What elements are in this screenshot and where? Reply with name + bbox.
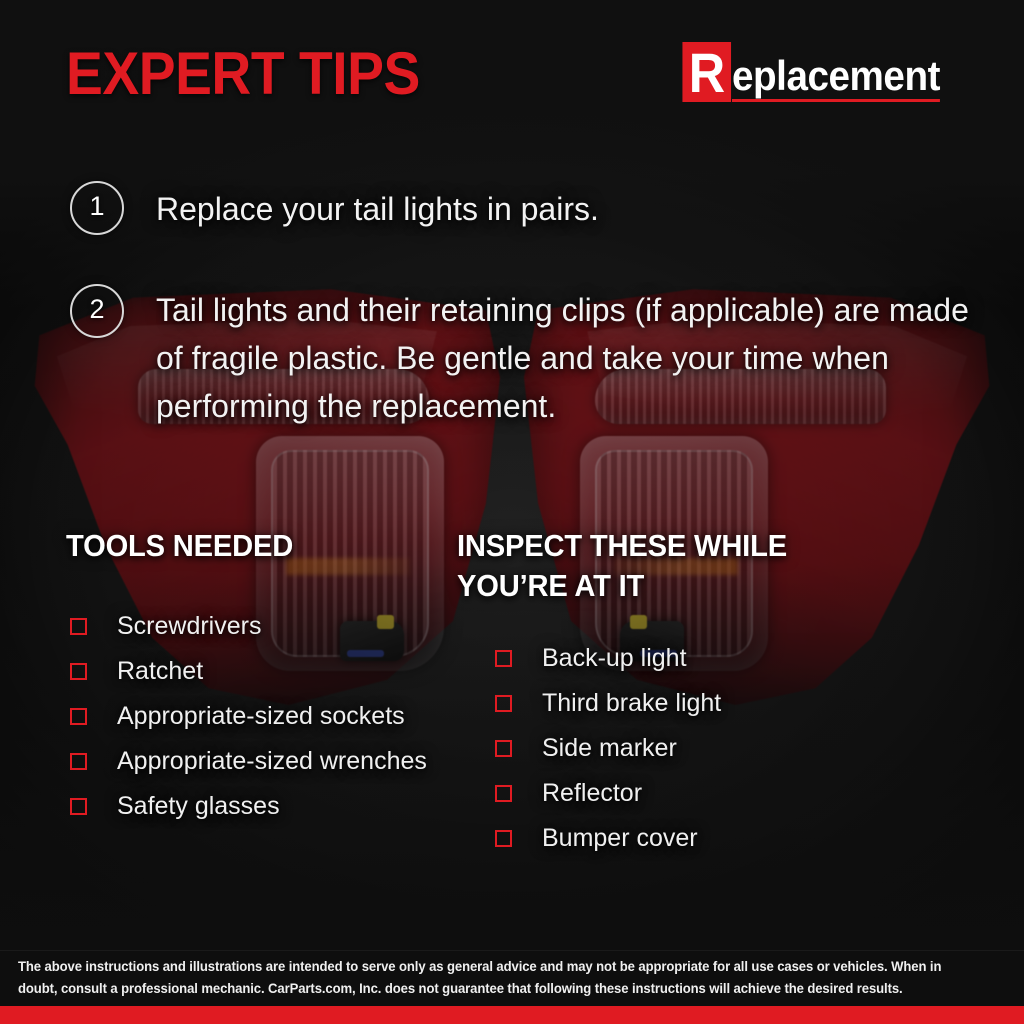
checkbox-icon[interactable] [70,663,87,680]
brand-logo: R eplacement [677,42,958,102]
bottom-accent-bar [0,1006,1024,1024]
inspect-these-heading: INSPECT THESE WHILE YOU’RE AT IT [457,526,833,606]
list-item-label: Appropriate-sized wrenches [117,749,427,774]
list-item[interactable]: Safety glasses [66,784,456,829]
checkbox-icon[interactable] [70,708,87,725]
list-item-label: Safety glasses [117,794,280,819]
list-item-label: Screwdrivers [117,614,261,639]
checkbox-icon[interactable] [495,830,512,847]
brand-logo-wordmark: eplacement [732,55,940,102]
brand-logo-initial: R [683,42,732,102]
list-item[interactable]: Appropriate-sized sockets [66,694,456,739]
poster-content: EXPERT TIPS R eplacement 1 Replace your … [0,0,1024,1024]
list-item-label: Back-up light [542,646,687,671]
page-title: EXPERT TIPS [66,44,420,104]
checkbox-icon[interactable] [495,785,512,802]
tip-text: Replace your tail lights in pairs. [156,185,599,233]
list-item[interactable]: Bumper cover [457,816,857,861]
expert-tips-poster: EXPERT TIPS R eplacement 1 Replace your … [0,0,1024,1024]
tip-text: Tail lights and their retaining clips (i… [156,286,970,430]
inspect-these-list: Back-up light Third brake light Side mar… [457,636,857,861]
list-item[interactable]: Side marker [457,726,857,771]
list-item-label: Ratchet [117,659,203,684]
list-item[interactable]: Back-up light [457,636,857,681]
footer-disclaimer: The above instructions and illustrations… [18,956,976,1000]
checkbox-icon[interactable] [70,753,87,770]
list-item[interactable]: Screwdrivers [66,604,456,649]
list-item[interactable]: Appropriate-sized wrenches [66,739,456,784]
tip-item-2: 2 Tail lights and their retaining clips … [70,284,970,430]
list-item-label: Bumper cover [542,826,698,851]
list-item[interactable]: Reflector [457,771,857,816]
list-item-label: Third brake light [542,691,721,716]
checkbox-icon[interactable] [495,650,512,667]
tools-needed-section: TOOLS NEEDED Screwdrivers Ratchet Approp… [66,526,456,829]
checkbox-icon[interactable] [495,695,512,712]
list-item-label: Appropriate-sized sockets [117,704,405,729]
tools-needed-heading: TOOLS NEEDED [66,526,433,566]
checkbox-icon[interactable] [70,618,87,635]
list-item-label: Side marker [542,736,677,761]
inspect-these-section: INSPECT THESE WHILE YOU’RE AT IT Back-up… [457,526,857,861]
list-item[interactable]: Ratchet [66,649,456,694]
list-item[interactable]: Third brake light [457,681,857,726]
tip-number-badge: 1 [70,181,124,235]
tip-number-badge: 2 [70,284,124,338]
tip-item-1: 1 Replace your tail lights in pairs. [70,181,970,235]
list-item-label: Reflector [542,781,642,806]
checkbox-icon[interactable] [495,740,512,757]
checkbox-icon[interactable] [70,798,87,815]
footer-divider [0,950,1024,951]
tools-needed-list: Screwdrivers Ratchet Appropriate-sized s… [66,604,456,829]
